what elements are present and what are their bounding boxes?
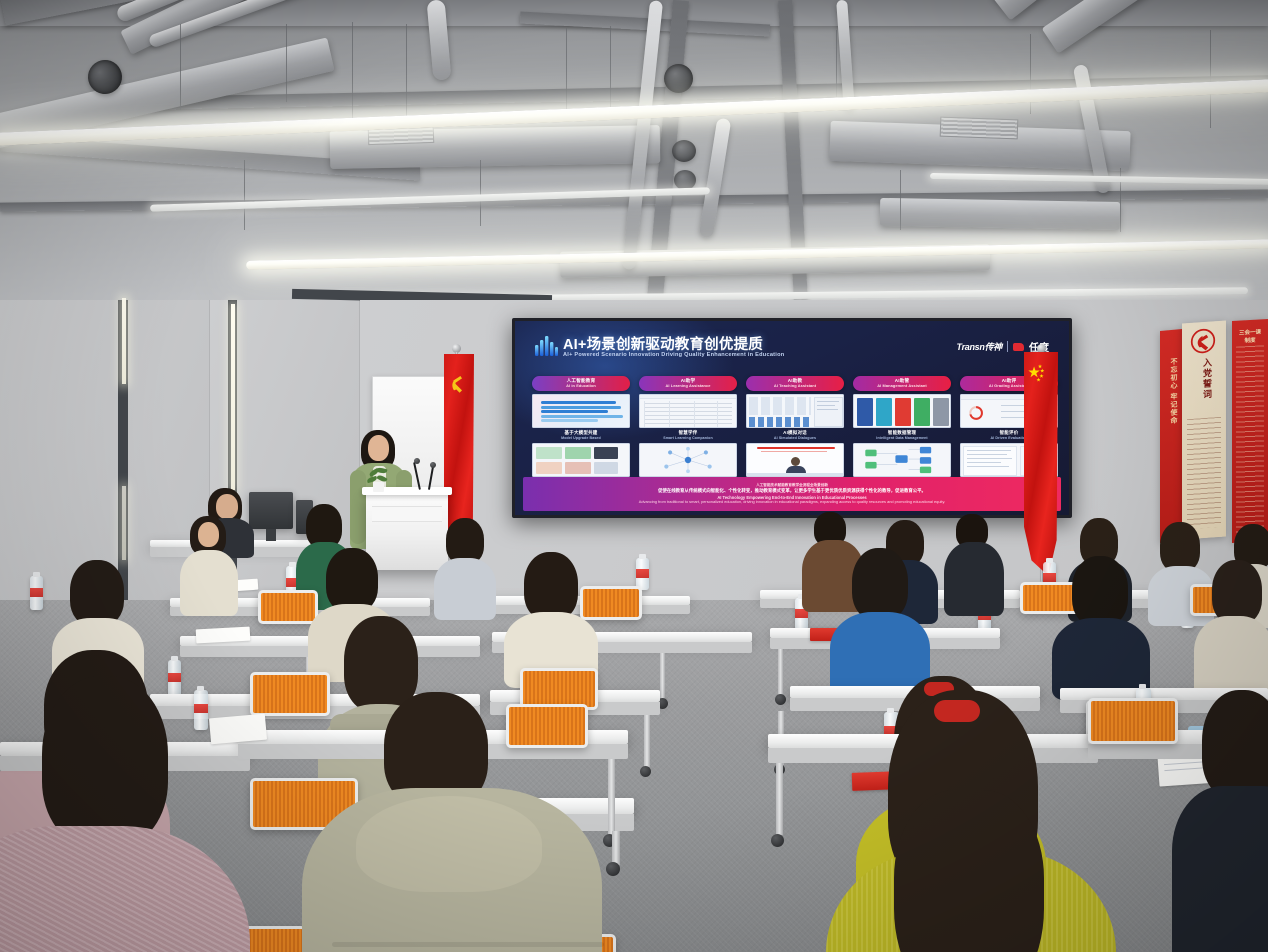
ai-logo-icon: [533, 336, 559, 358]
national-flag-cloth: [1024, 352, 1058, 576]
tile-caption: 智慧学伴 Smart Learning Companion: [639, 430, 737, 440]
podium: [366, 492, 448, 570]
party-emblem-icon: [1190, 327, 1216, 355]
control-monitor: [249, 492, 293, 529]
slide-tile[interactable]: 基于大模型共建 Model Upgrade Based: [532, 394, 630, 440]
water-bottle: [194, 690, 208, 730]
wall-strip-light: [122, 298, 126, 384]
brand-divider: [1007, 341, 1008, 352]
badge-ai-in-education[interactable]: 人工智能教育 AI in Education: [532, 376, 630, 391]
tile-thumbnail: [853, 394, 951, 428]
hammer-sickle-icon: [446, 368, 470, 416]
poster-body-text: [1236, 345, 1264, 534]
podium-plant: [367, 468, 389, 492]
conference-room-photo: AI+场景创新驱动教育创优提质 AI+ Powered Scenario Inn…: [0, 0, 1268, 952]
slide-tile[interactable]: AI模拟对话 AI Simulated Dialogues: [746, 394, 844, 440]
tile-caption: AI模拟对话 AI Simulated Dialogues: [746, 430, 844, 440]
notebook: [196, 627, 251, 644]
tile-thumbnail: [639, 394, 737, 428]
slide-title: AI+场景创新驱动教育创优提质: [563, 333, 763, 354]
slide-subtitle: AI+ Powered Scenario Innovation Driving …: [563, 352, 784, 358]
slide-column-1: 人工智能教育 AI in Education: [532, 376, 630, 488]
podium-panel: [372, 506, 442, 522]
tile-thumbnail: [532, 443, 630, 477]
water-bottle: [168, 660, 181, 698]
wall-strip-light: [122, 486, 126, 560]
chair[interactable]: [250, 672, 330, 716]
wall-strip-light: [231, 304, 235, 490]
brand-transn-label: Transn传神: [957, 340, 1002, 353]
chair[interactable]: [258, 590, 318, 624]
poster-body-text: [1187, 417, 1221, 529]
presentation-slide: AI+场景创新驱动教育创优提质 AI+ Powered Scenario Inn…: [515, 321, 1069, 515]
tile-caption: 智能数据管理 Intelligent Data Management: [853, 430, 951, 440]
tile-thumbnail: [639, 443, 737, 477]
chair[interactable]: [1088, 698, 1178, 744]
slide-column-2: AI助学 AI Learning Assistance: [639, 376, 737, 488]
chair[interactable]: [580, 586, 642, 620]
poster-party-oath: 入党誓词: [1182, 320, 1226, 539]
rendu-mark-icon: [1013, 343, 1024, 351]
banner-cn-line2: 促使在线教育从传统模式向智能化、个性化转变，推动教育模式变革，让更多学生基于更优…: [658, 488, 926, 494]
slide-column-4: AI助管 AI Management Assistant 智能数据管理: [853, 376, 951, 488]
duct-outlet-icon: [672, 140, 696, 162]
microphone-head-icon: [430, 462, 436, 468]
badge-ai-teaching-assistant[interactable]: AI助教 AI Teaching Assistant: [746, 376, 844, 391]
tile-caption: 基于大模型共建 Model Upgrade Based: [532, 430, 630, 440]
tile-thumbnail: [746, 443, 844, 477]
duct-outlet-icon: [664, 64, 693, 93]
ceiling-vent: [940, 117, 1019, 140]
tile-thumbnail: [746, 394, 844, 428]
badge-ai-learning-assistance[interactable]: AI助学 AI Learning Assistance: [639, 376, 737, 391]
water-bottle: [30, 576, 43, 610]
tile-thumbnail: [532, 394, 630, 428]
poster-red-text: 三会一课制度: [1232, 319, 1268, 543]
jacket-hood: [356, 796, 542, 892]
slide-column-3: AI助教 AI Teaching Assistant: [746, 376, 844, 488]
badge-ai-management-assistant[interactable]: AI助管 AI Management Assistant: [853, 376, 951, 391]
tile-thumbnail: [853, 443, 951, 477]
slide-bottom-banner: 人工智能技术赋能教育教学全流程全场景创新 促使在线教育从传统模式向智能化、个性化…: [523, 477, 1061, 511]
hair-bow: [934, 700, 980, 722]
microphone-head-icon: [414, 458, 420, 464]
ceiling-structure: [0, 0, 1268, 318]
chair[interactable]: [506, 704, 588, 748]
five-stars-icon: [1027, 362, 1053, 414]
brand-lockup: Transn传神 任度: [957, 339, 1049, 354]
poster-vertical-slogan: 不忘初心 牢记使命: [1160, 329, 1182, 543]
slide-tile[interactable]: 智能数据管理 Intelligent Data Management: [853, 394, 951, 440]
led-video-wall[interactable]: AI+场景创新驱动教育创优提质 AI+ Powered Scenario Inn…: [512, 318, 1072, 518]
banner-en-line2: Advancing from traditional to smart, per…: [639, 500, 945, 505]
slide-tile[interactable]: 智慧学伴 Smart Learning Companion: [639, 394, 737, 440]
slide-header: AI+场景创新驱动教育创优提质 AI+ Powered Scenario Inn…: [533, 333, 1059, 373]
notebook: [209, 714, 267, 745]
